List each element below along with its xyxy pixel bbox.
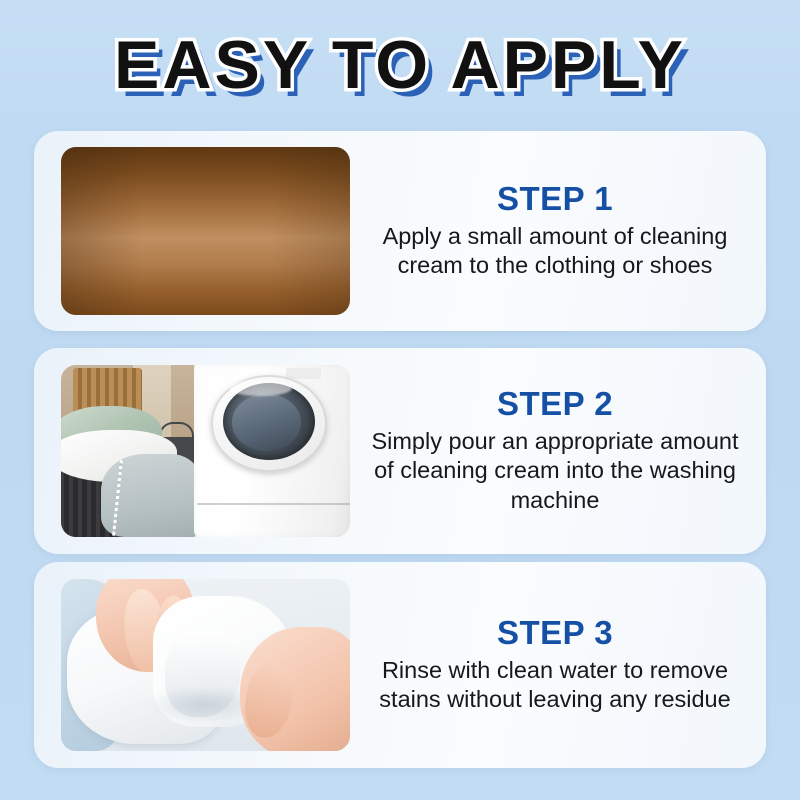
step-1-image bbox=[61, 147, 350, 315]
step-card-2: STEP 2 Simply pour an appropriate amount… bbox=[34, 348, 766, 554]
step-1-text-block: STEP 1 Apply a small amount of cleaning … bbox=[350, 181, 766, 281]
step-3-description: Rinse with clean water to remove stains … bbox=[360, 656, 750, 715]
step-1-description: Apply a small amount of cleaning cream t… bbox=[360, 222, 750, 281]
washing-machine-scene-graphic bbox=[61, 365, 350, 537]
page-header: EASY TO APPLY EASY TO APPLY EASY TO APPL… bbox=[0, 22, 800, 108]
washing-machine-seam bbox=[197, 503, 350, 505]
step-3-image bbox=[61, 579, 350, 751]
brown-cleaning-cream-swatch-graphic bbox=[61, 147, 350, 315]
step-2-image bbox=[61, 365, 350, 537]
page-title: EASY TO APPLY EASY TO APPLY EASY TO APPL… bbox=[114, 31, 686, 99]
step-3-text-block: STEP 3 Rinse with clean water to remove … bbox=[350, 615, 766, 715]
page-title-text: EASY TO APPLY bbox=[114, 27, 686, 103]
washing-machine-control-panel bbox=[286, 368, 321, 378]
step-card-1: STEP 1 Apply a small amount of cleaning … bbox=[34, 131, 766, 331]
step-2-text-block: STEP 2 Simply pour an appropriate amount… bbox=[350, 386, 766, 515]
washing-machine-drum-laundry bbox=[232, 394, 301, 451]
step-2-description: Simply pour an appropriate amount of cle… bbox=[360, 427, 750, 516]
door-glass-highlight bbox=[229, 380, 293, 395]
step-2-title: STEP 2 bbox=[360, 386, 750, 422]
step-card-3: STEP 3 Rinse with clean water to remove … bbox=[34, 562, 766, 768]
step-1-title: STEP 1 bbox=[360, 181, 750, 217]
step-3-title: STEP 3 bbox=[360, 615, 750, 651]
hands-rinsing-garment-graphic bbox=[61, 579, 350, 751]
